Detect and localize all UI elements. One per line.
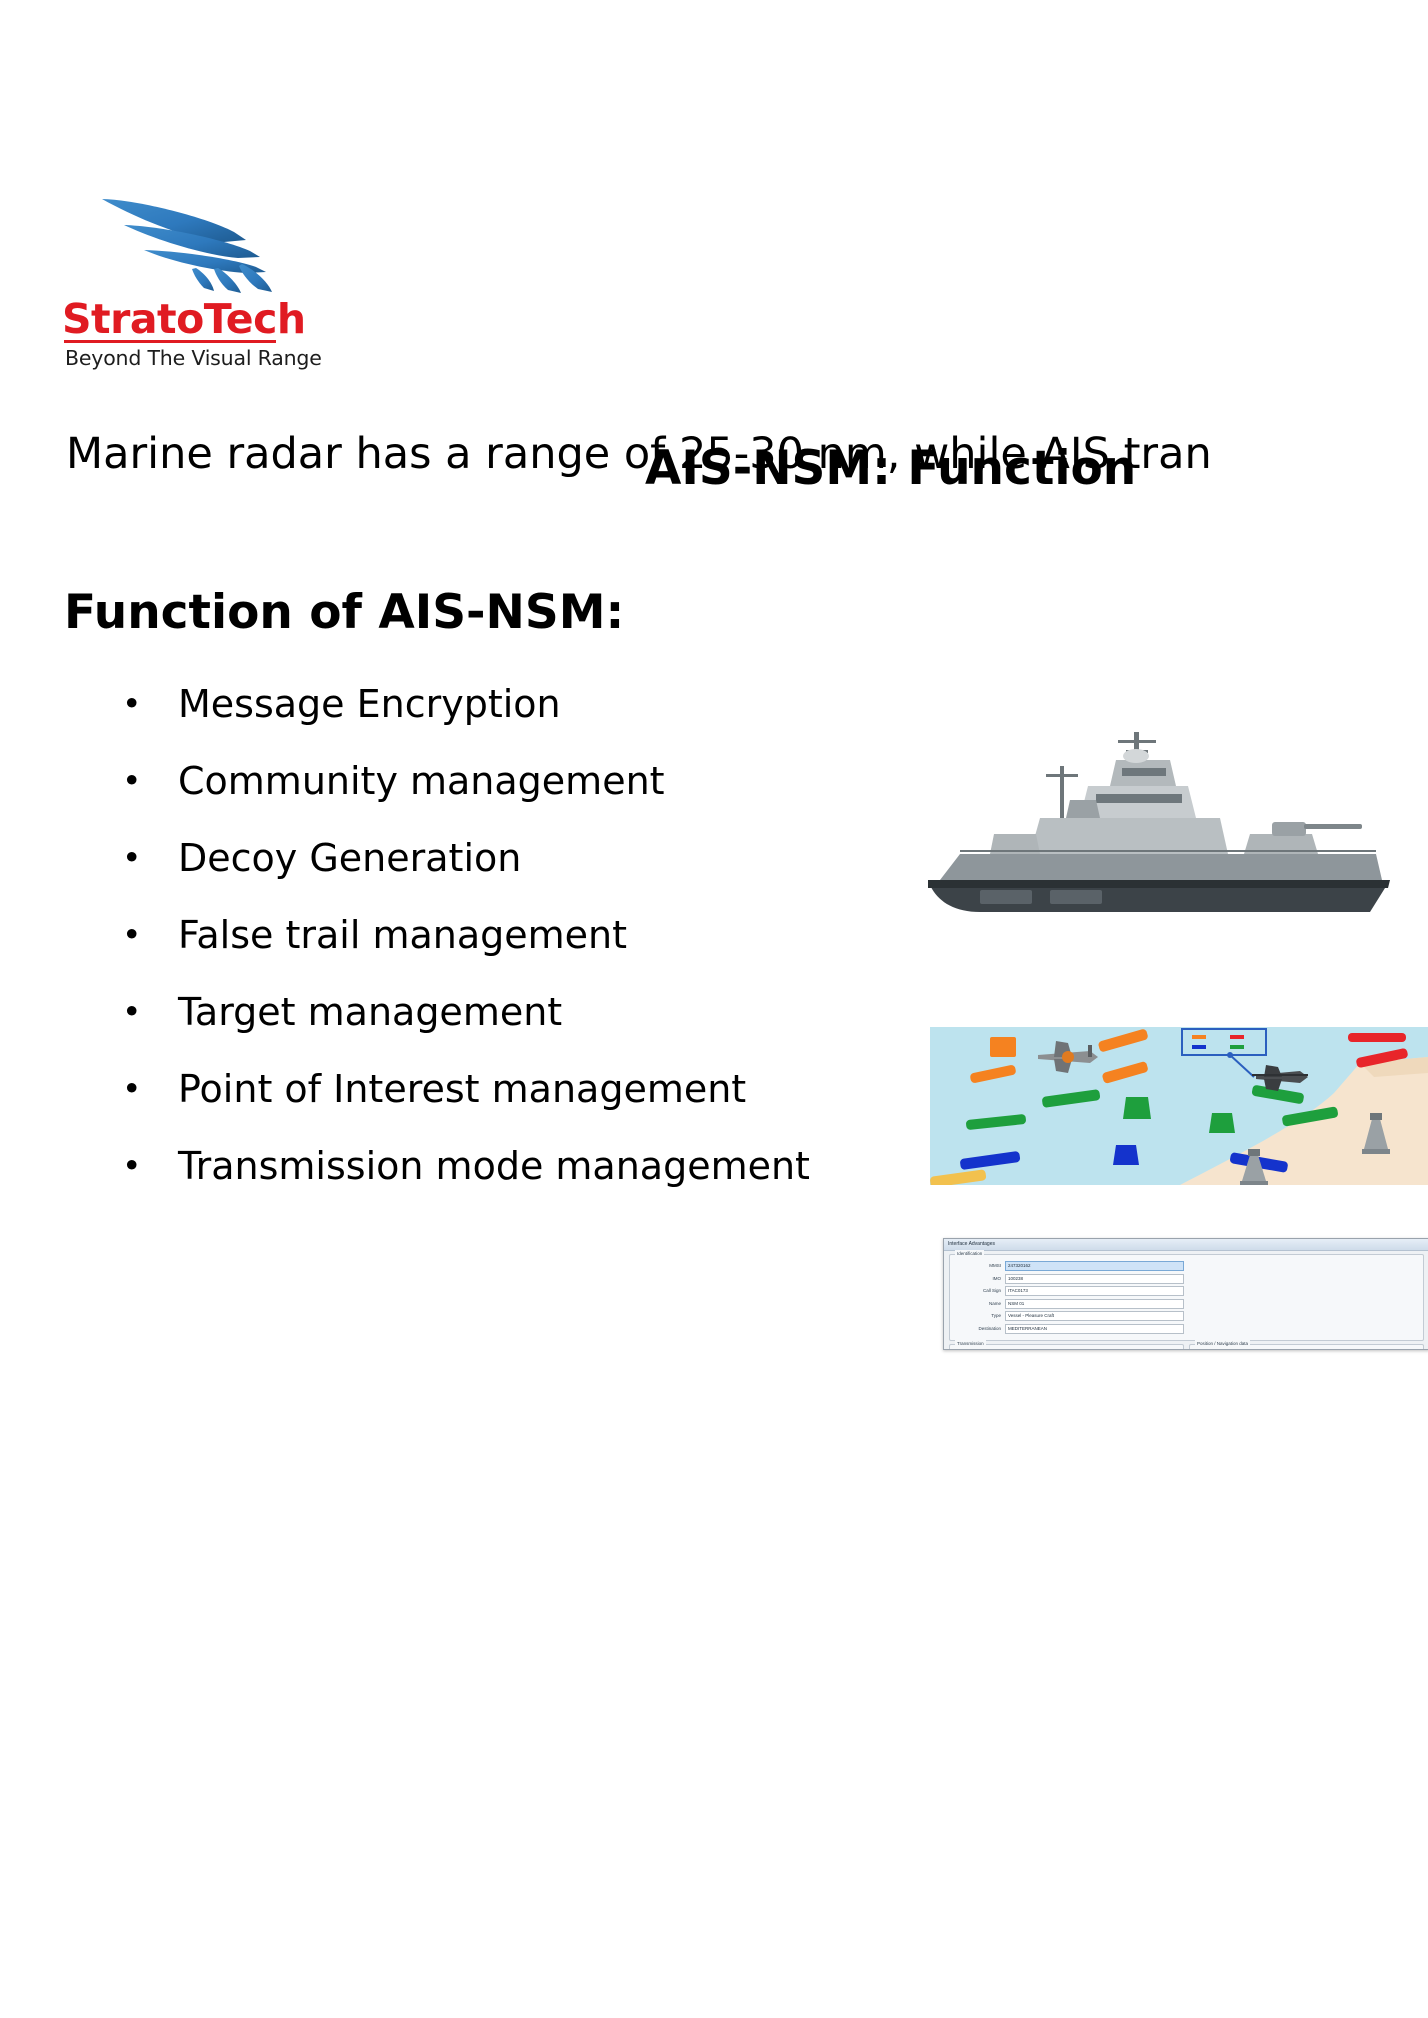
list-item: • Transmission mode management [118,1127,1018,1204]
field-label: Name [955,1300,1005,1308]
list-item-label: False trail management [178,911,627,959]
field-input[interactable]: 100238 [1005,1274,1184,1284]
list-item: • Community management [118,742,1018,819]
list-item-label: Message Encryption [178,680,561,728]
form-field: Call Sign ITAC0173 [955,1286,1184,1296]
list-item-label: Target management [178,988,562,1036]
field-input[interactable]: NSM 01 [1005,1299,1184,1309]
form-field: Type Vessel - Pleasure Craft [955,1311,1184,1321]
bullet-icon: • [118,687,178,720]
field-dropdown[interactable]: MEDITERRANEAN [1005,1324,1184,1334]
field-label: Type [955,1312,1005,1320]
field-label: Destination [955,1325,1005,1333]
list-item: • False trail management [118,896,1018,973]
form-field: Name NSM 01 [955,1299,1184,1309]
section-heading: Function of AIS-NSM: [64,583,624,643]
position-navigation-group: Position / Navigation data Latitude 36.8… [1189,1344,1424,1350]
group-legend: Transmission [955,1340,986,1348]
field-label: Call Sign [955,1287,1005,1295]
list-item-label: Decoy Generation [178,834,521,882]
function-bullet-list: • Message Encryption • Community managem… [118,665,1018,1204]
stratotech-logo: StratoTech Beyond The Visual Range [62,188,292,373]
dialog-titlebar: Interface Advantages [944,1239,1428,1251]
logo-tagline: Beyond The Visual Range [65,345,280,371]
field-label: IMO [955,1275,1005,1283]
field-input[interactable]: ITAC0173 [1005,1286,1184,1296]
list-item: • Decoy Generation [118,819,1018,896]
bullet-icon: • [118,1072,178,1105]
tactical-map-image [930,1027,1428,1185]
configuration-dialog-image: Interface Advantages Identification MMSI… [943,1238,1428,1350]
tactical-map-graphic [930,1027,1428,1185]
field-label: MMSI [955,1262,1005,1270]
logo-wordmark: StratoTech [62,296,277,342]
bullet-icon: • [118,1149,178,1182]
bullet-icon: • [118,841,178,874]
identification-group: Identification MMSI 247320162 IMO 100238… [949,1254,1424,1341]
warship-image [920,730,1428,930]
transmission-group: Transmission Message report interval (se… [949,1344,1184,1350]
list-item: • Message Encryption [118,665,1018,742]
bullet-icon: • [118,764,178,797]
form-field: Destination MEDITERRANEAN [955,1324,1184,1334]
dialog-body: Identification MMSI 247320162 IMO 100238… [944,1251,1428,1350]
list-item-label: Community management [178,757,665,805]
list-item-label: Transmission mode management [178,1142,810,1190]
field-input[interactable]: 247320162 [1005,1261,1184,1271]
form-field: IMO 100238 [955,1274,1184,1284]
group-legend: Identification [955,1250,984,1258]
bullet-icon: • [118,995,178,1028]
form-field: MMSI 247320162 [955,1261,1184,1271]
wing-icon [100,188,292,293]
list-item: • Target management [118,973,1018,1050]
slide-canvas: StratoTech Beyond The Visual Range AIS-N… [0,0,1428,2018]
slide-subtitle: Marine radar has a range of 25-30 nm, wh… [66,425,1212,483]
logo-divider [64,340,276,343]
list-item-label: Point of Interest management [178,1065,746,1113]
warship-illustration [920,730,1428,930]
list-item: • Point of Interest management [118,1050,1018,1127]
field-dropdown[interactable]: Vessel - Pleasure Craft [1005,1311,1184,1321]
bullet-icon: • [118,918,178,951]
group-legend: Position / Navigation data [1195,1340,1250,1348]
